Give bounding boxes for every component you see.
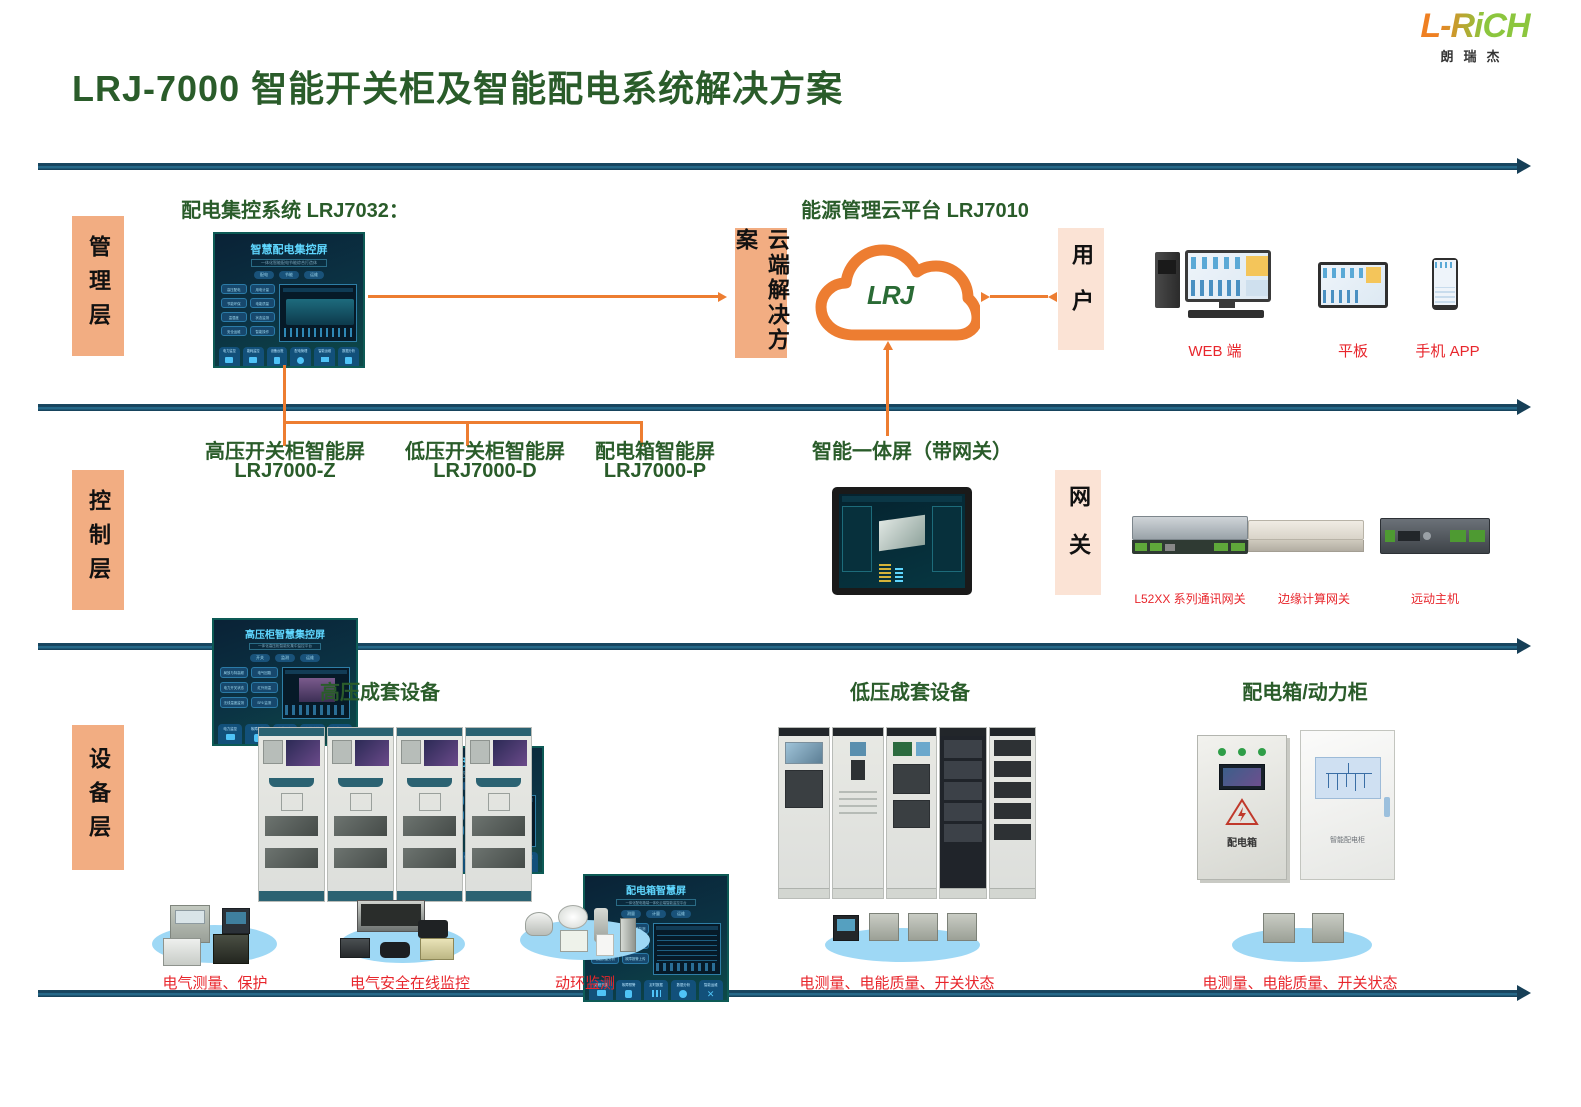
hv-switchgear-image <box>258 727 532 902</box>
smoke-detector-icon <box>558 905 588 929</box>
ct-sensor-icon <box>869 913 899 941</box>
cloud-icon: LRJ <box>815 240 980 345</box>
hmi-subtitle: 一体化智能配电节能综合打造体 <box>251 259 327 267</box>
hmi-pill: 运维 <box>304 271 324 279</box>
ct-sensor-icon <box>1312 913 1344 943</box>
connector-horizontal-control <box>283 421 643 424</box>
rack-gateway-icon <box>1132 516 1248 556</box>
controller-board-icon <box>420 938 454 960</box>
access-panel-icon <box>620 918 636 952</box>
cloud-solution-label: 云端解决方案 <box>729 228 793 358</box>
layer-tag-management: 管理层 <box>72 216 124 356</box>
product-heading-z-line2: LRJ7000-Z <box>190 460 380 483</box>
smart-cabinet-label: 智能配电柜 <box>1301 835 1394 845</box>
layer-tag-device-label: 设备层 <box>82 747 114 849</box>
hmi-preview-panel <box>279 284 357 342</box>
gateway-label-edge: 边缘计算网关 <box>1254 590 1374 607</box>
test-device-icon <box>163 938 201 966</box>
hmi-pill: 节能 <box>279 271 299 279</box>
water-leak-sensor-icon <box>596 934 614 956</box>
multifunction-meter-icon <box>833 915 859 941</box>
dome-camera-icon <box>525 912 553 936</box>
hmi-button[interactable]: 节能环保 <box>221 298 247 308</box>
hmi-footer-button[interactable]: 能耗监控 <box>243 347 264 368</box>
arrow-scada-to-cloud-solution <box>368 295 718 298</box>
device-ellipse-base <box>1232 928 1372 962</box>
power-meter-icon <box>222 908 250 934</box>
hmi-button[interactable]: 高压配电 <box>221 284 247 294</box>
cloud-logo-text: LRJ <box>867 280 913 311</box>
device-caption-lv-measurement: 电测量、电能质量、开关状态 <box>782 972 1012 993</box>
hmi-subtitle: 一体化配电箱端一体化云端智能监控平台 <box>616 899 696 906</box>
distribution-box-image: 配电箱 <box>1197 735 1287 880</box>
gateway-box-label: 网关 <box>1062 485 1094 581</box>
hmi-body: 高压配电 用电计量 节能环保 电能质量 温湿度 状态监测 安全运维 智能操作 <box>215 284 363 342</box>
client-label-app: 手机 APP <box>1400 340 1495 361</box>
industrial-pc-icon <box>357 900 425 932</box>
hmi-subtitle: 一体化高压柜智能化集中监控平台 <box>249 643 321 650</box>
cloud-platform-heading: 能源管理云平台 LRJ7010 <box>795 194 1035 223</box>
client-label-web: WEB 端 <box>1155 340 1275 361</box>
ct-sensor-icon <box>1263 913 1295 943</box>
hmi-footer-row: 电力监控 能耗监控 设备台账 配电管理 智能运维 数据分析 <box>215 342 363 368</box>
device-caption-environment-monitor: 动环监测 <box>520 972 650 993</box>
rtu-host-icon <box>1380 518 1490 554</box>
hmi-pill: 运维 <box>300 654 320 662</box>
hmi-preview-panel <box>653 923 721 975</box>
hmi-button[interactable]: 电能质量 <box>250 298 276 308</box>
gateway-label-l52xx: L52XX 系列通讯网关 <box>1110 590 1270 607</box>
gateway-box: 网关 <box>1055 470 1101 595</box>
temp-humidity-sensor-icon <box>560 930 588 952</box>
hmi-title: 配电箱智慧屏 <box>585 882 727 897</box>
device-caption-measurement-protection: 电气测量、保护 <box>140 972 290 993</box>
monitoring-module-icon <box>213 934 249 964</box>
edge-compute-gateway-icon <box>1248 520 1364 554</box>
product-heading-d-line2: LRJ7000-D <box>390 460 580 483</box>
hmi-button[interactable]: 状态监测 <box>250 312 276 322</box>
hmi-pill-row: 配电 节能 运维 <box>215 271 363 279</box>
hmi-pill: 配电 <box>254 271 274 279</box>
product-image-lrj7032[interactable]: 智慧配电集控屏 一体化智能配电节能综合打造体 配电 节能 运维 高压配电 用电计… <box>213 232 365 368</box>
layer-tag-device: 设备层 <box>72 725 124 870</box>
hmi-pill: 运维 <box>671 910 691 918</box>
lv-switchgear-image <box>778 727 1036 899</box>
device-caption-electrical-safety: 电气安全在线监控 <box>325 972 495 993</box>
divider-top <box>38 163 1518 170</box>
logo-chinese-name: 朗瑞杰 <box>1380 46 1570 65</box>
sensor-module-icon <box>340 938 370 958</box>
hmi-button[interactable]: 电力开关状态 <box>220 682 248 693</box>
device-heading-hv: 高压成套设备 <box>250 676 510 705</box>
hmi-button[interactable]: 温湿度 <box>221 312 247 322</box>
hmi-footer-button[interactable]: 配电管理 <box>290 347 311 368</box>
collector-box-icon <box>418 920 448 938</box>
hmi-pill: 开关 <box>250 654 270 662</box>
arrow-cloud-users <box>990 295 1048 298</box>
connector-vertical-scada <box>283 365 286 423</box>
integrated-screen-image[interactable] <box>832 487 972 595</box>
ct-sensor-icon <box>947 913 977 941</box>
hmi-button-column: 高压配电 用电计量 节能环保 电能质量 温湿度 状态监测 安全运维 智能操作 <box>221 284 275 342</box>
cloud-solution-box: 云端解决方案 <box>735 228 787 358</box>
device-caption-dist-measurement: 电测量、电能质量、开关状态 <box>1185 972 1415 993</box>
hmi-button[interactable]: 无线温度监测 <box>220 697 248 708</box>
hmi-pill: 计量 <box>646 910 666 918</box>
scada-heading: 配电集控系统 LRJ7032： <box>175 194 415 223</box>
hmi-title: 智慧配电集控屏 <box>215 241 363 257</box>
page-title: LRJ-7000 智能开关柜及智能配电系统解决方案 <box>72 60 843 112</box>
hmi-footer-button[interactable]: 智能运维✕ <box>699 980 723 1002</box>
logo-wordmark: L-RiCH <box>1380 8 1570 44</box>
connector-cloud-to-integrated-screen <box>886 350 889 436</box>
hmi-title: 高压柜智慧集控屏 <box>214 626 356 641</box>
hmi-footer-button[interactable]: 电力监控 <box>218 724 242 746</box>
hmi-pill-row: 开关 监测 运维 <box>214 654 356 662</box>
layer-tag-management-label: 管理层 <box>82 235 114 337</box>
layer-tag-control: 控制层 <box>72 470 124 610</box>
layer-tag-control-label: 控制层 <box>82 489 114 591</box>
divider-management-control <box>38 404 1518 411</box>
ct-sensor-icon <box>908 913 938 941</box>
hmi-button[interactable]: 安全运维 <box>221 326 247 336</box>
smart-distribution-cabinet-image: 智能配电柜 <box>1300 730 1395 880</box>
hmi-footer-button[interactable]: 数据分析 <box>338 347 359 368</box>
hmi-footer-button[interactable]: 数据分析 <box>671 980 695 1002</box>
hmi-footer-button[interactable]: 智能运维 <box>314 347 335 368</box>
user-box-label: 用户 <box>1065 243 1097 335</box>
pouch-device-icon <box>380 942 410 958</box>
user-box: 用户 <box>1058 228 1104 350</box>
brand-logo: L-RiCH 朗瑞杰 <box>1380 8 1570 70</box>
gateway-label-rtu: 远动主机 <box>1385 590 1485 607</box>
hmi-pill: 测量 <box>621 910 641 918</box>
hmi-button[interactable]: 用电计量 <box>250 284 276 294</box>
client-label-tablet: 平板 <box>1313 340 1393 361</box>
smartphone-icon <box>1432 258 1458 310</box>
integrated-screen-heading: 智能一体屏（带网关） <box>812 435 1042 464</box>
device-heading-dist: 配电箱/动力柜 <box>1185 676 1425 705</box>
hmi-button[interactable]: 局放与特高频 <box>220 667 248 678</box>
hmi-footer-button[interactable]: 电力监控 <box>219 347 240 368</box>
distribution-box-label: 配电箱 <box>1198 834 1286 849</box>
device-heading-lv: 低压成套设备 <box>790 676 1030 705</box>
product-heading-p-line2: LRJ7000-P <box>570 460 740 483</box>
hmi-button[interactable]: 智能操作 <box>250 326 276 336</box>
tablet-icon <box>1318 262 1388 308</box>
hmi-pill: 监测 <box>275 654 295 662</box>
desktop-computer-icon <box>1155 250 1275 320</box>
